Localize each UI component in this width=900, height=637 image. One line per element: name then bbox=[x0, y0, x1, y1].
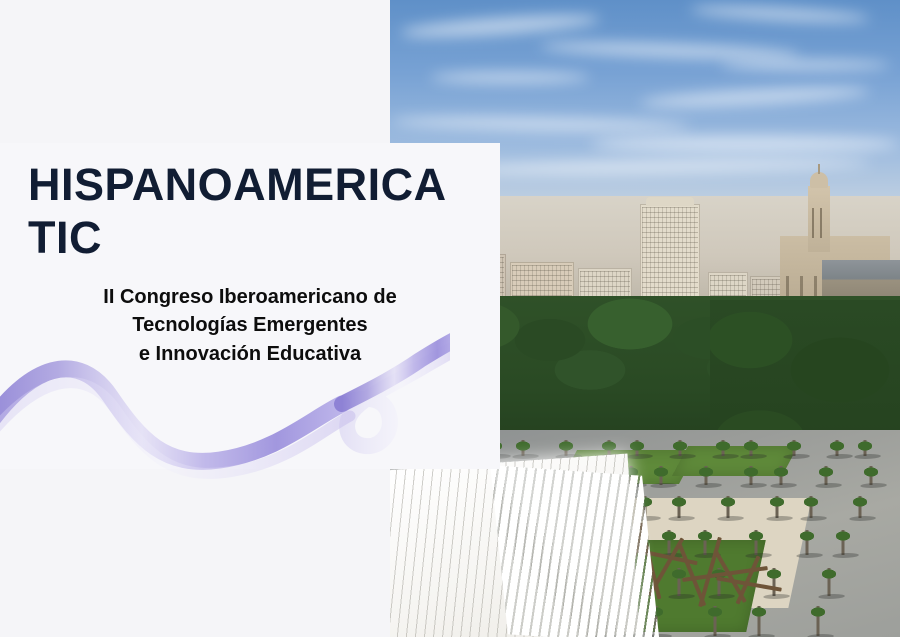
cathedral-dome bbox=[810, 172, 828, 188]
palm-tree bbox=[860, 466, 882, 485]
palm-tree bbox=[807, 606, 829, 636]
palm-tree bbox=[740, 440, 762, 456]
cathedral-bell-tower bbox=[808, 186, 830, 252]
palm-tree bbox=[704, 606, 726, 636]
palm-tree bbox=[748, 606, 770, 636]
palm-tree bbox=[832, 530, 854, 555]
congress-subtitle: II Congreso Iberoamericano de Tecnología… bbox=[40, 283, 460, 368]
palm-tree bbox=[555, 440, 577, 456]
palm-tree bbox=[695, 466, 717, 485]
pergola-fins bbox=[490, 465, 660, 637]
hotel-roof bbox=[646, 197, 694, 206]
palm-tree bbox=[650, 466, 672, 485]
hotel-tower bbox=[640, 204, 700, 300]
palm-tree bbox=[512, 440, 534, 456]
palm-tree bbox=[818, 568, 840, 596]
palm-tree bbox=[668, 496, 690, 518]
cloud bbox=[590, 136, 900, 152]
palm-tree bbox=[766, 496, 788, 518]
cloud bbox=[430, 72, 590, 83]
cloud bbox=[720, 60, 890, 70]
palm-tree bbox=[740, 466, 762, 485]
palm-tree bbox=[815, 466, 837, 485]
page-title: HISPANOAMERICA TIC bbox=[28, 158, 478, 264]
palm-tree bbox=[826, 440, 848, 456]
palm-tree bbox=[783, 440, 805, 456]
palm-tree bbox=[626, 440, 648, 456]
conference-poster: HISPANOAMERICA TIC II Congreso Iberoamer… bbox=[0, 0, 900, 637]
palm-tree bbox=[712, 440, 734, 456]
palm-tree bbox=[854, 440, 876, 456]
palm-tree bbox=[669, 440, 691, 456]
cathedral-spire bbox=[818, 164, 820, 174]
palm-tree bbox=[717, 496, 739, 518]
palm-tree bbox=[849, 496, 871, 518]
palm-tree bbox=[800, 496, 822, 518]
palm-tree bbox=[770, 466, 792, 485]
